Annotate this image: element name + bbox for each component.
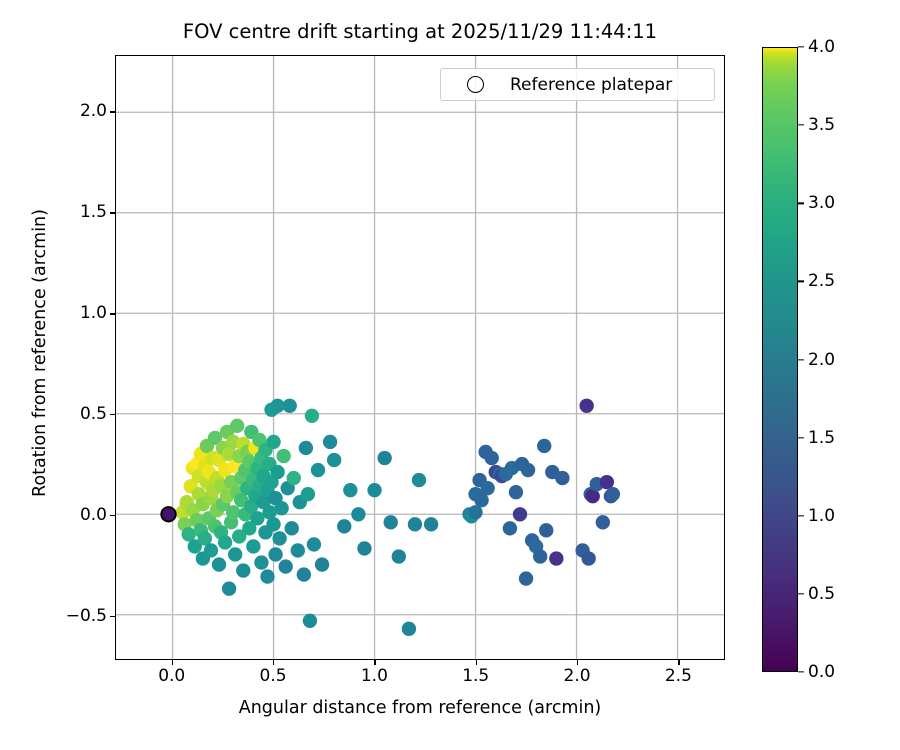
scatter-point (351, 507, 365, 521)
scatter-point (533, 549, 547, 563)
scatter-point (276, 449, 290, 463)
y-tick-mark (110, 616, 115, 617)
scatter-point (311, 463, 325, 477)
colorbar-tick-mark (798, 437, 804, 438)
page-title: FOV centre drift starting at 2025/11/29 … (115, 20, 725, 43)
colorbar-tick-label: 1.5 (808, 428, 835, 448)
y-tick-mark (110, 212, 115, 213)
x-tick-mark (273, 660, 274, 665)
y-tick-mark (110, 313, 115, 314)
y-tick-label: 2.0 (80, 101, 107, 121)
scatter-point (555, 471, 569, 485)
scatter-point (384, 515, 398, 529)
figure-canvas: FOV centre drift starting at 2025/11/29 … (0, 0, 900, 750)
scatter-point (272, 531, 286, 545)
scatter-point (343, 483, 357, 497)
scatter-point (268, 547, 282, 561)
x-tick-label: 1.0 (361, 666, 388, 686)
scatter-point (337, 519, 351, 533)
circle-icon (467, 76, 484, 93)
scatter-point (266, 517, 280, 531)
scatter-point (581, 551, 595, 565)
scatter-point (424, 517, 438, 531)
x-tick-mark (476, 660, 477, 665)
scatter-point (301, 487, 315, 501)
scatter-point (270, 465, 284, 479)
scatter-point (305, 409, 319, 423)
scatter-point (212, 557, 226, 571)
reference-marker (161, 507, 175, 521)
scatter-point (291, 543, 305, 557)
scatter-point (297, 567, 311, 581)
y-tick-label: −0.5 (66, 606, 107, 626)
scatter-point (274, 501, 288, 515)
x-tick-label: 1.5 (462, 666, 489, 686)
y-tick-label: 0.0 (80, 505, 107, 525)
x-axis-label: Angular distance from reference (arcmin) (115, 698, 725, 718)
scatter-point (254, 555, 268, 569)
x-tick-mark (374, 660, 375, 665)
scatter-point (367, 483, 381, 497)
scatter-point (521, 463, 535, 477)
gridlines (116, 56, 724, 659)
x-tick-label: 0.0 (158, 666, 185, 686)
scatter-point (357, 541, 371, 555)
y-axis-label: Rotation from reference (arcmin) (30, 48, 50, 658)
scatter-point (307, 537, 321, 551)
colorbar-tick-mark (798, 671, 804, 672)
colorbar-tick-label: 2.5 (808, 271, 835, 291)
x-tick-mark (678, 660, 679, 665)
scatter-point (303, 614, 317, 628)
scatter-point (230, 419, 244, 433)
scatter-point (236, 563, 250, 577)
scatter-point (260, 569, 274, 583)
colorbar-tick-label: 4.0 (808, 37, 835, 57)
colorbar-tick-label: 3.5 (808, 115, 835, 135)
y-tick-label: 1.0 (80, 303, 107, 323)
data-points-layer (175, 399, 620, 636)
colorbar-tick-mark (798, 359, 804, 360)
legend[interactable]: Reference platepar (440, 68, 715, 101)
scatter-point (519, 571, 533, 585)
colorbar-tick-label: 1.0 (808, 506, 835, 526)
scatter-point (226, 505, 240, 519)
colorbar-tick-label: 0.5 (808, 584, 835, 604)
scatter-point (596, 515, 610, 529)
x-tick-label: 0.5 (260, 666, 287, 686)
scatter-point (606, 487, 620, 501)
scatter-point (315, 557, 329, 571)
scatter-point (246, 539, 260, 553)
scatter-point (549, 551, 563, 565)
y-tick-mark (110, 515, 115, 516)
y-tick-mark (110, 414, 115, 415)
scatter-point (412, 473, 426, 487)
colorbar-tick-mark (798, 515, 804, 516)
plot-axes[interactable] (115, 55, 725, 660)
scatter-point (579, 399, 593, 413)
colorbar-gradient (762, 47, 798, 672)
scatter-point (287, 471, 301, 485)
scatter-point (266, 435, 280, 449)
colorbar-tick-mark (798, 46, 804, 47)
colorbar-tick-mark (798, 593, 804, 594)
scatter-point (283, 399, 297, 413)
scatter-point (539, 523, 553, 537)
x-tick-label: 2.5 (665, 666, 692, 686)
colorbar[interactable]: 0.00.51.01.52.02.53.03.54.0 (762, 47, 798, 672)
colorbar-tick-label: 3.0 (808, 193, 835, 213)
scatter-point (513, 507, 527, 521)
scatter-point (327, 453, 341, 467)
colorbar-tick-mark (798, 203, 804, 204)
scatter-point (222, 581, 236, 595)
scatter-point (392, 549, 406, 563)
scatter-point (402, 622, 416, 636)
scatter-point (204, 543, 218, 557)
scatter-point (377, 451, 391, 465)
scatter-plot-svg (116, 56, 724, 659)
colorbar-tick-mark (798, 281, 804, 282)
scatter-point (299, 441, 313, 455)
x-tick-mark (172, 660, 173, 665)
y-tick-label: 1.5 (80, 202, 107, 222)
y-tick-label: 0.5 (80, 404, 107, 424)
scatter-point (509, 485, 523, 499)
scatter-point (323, 435, 337, 449)
scatter-point (485, 451, 499, 465)
scatter-point (537, 439, 551, 453)
scatter-point (408, 517, 422, 531)
legend-label: Reference platepar (510, 75, 672, 95)
scatter-point (218, 535, 232, 549)
scatter-point (503, 521, 517, 535)
y-tick-mark (110, 111, 115, 112)
scatter-point (285, 521, 299, 535)
scatter-point (278, 559, 292, 573)
x-tick-mark (577, 660, 578, 665)
colorbar-tick-label: 2.0 (808, 350, 835, 370)
scatter-point (480, 481, 494, 495)
colorbar-tick-mark (798, 124, 804, 125)
reference-platepar-point (161, 507, 175, 521)
x-tick-label: 2.0 (564, 666, 591, 686)
colorbar-tick-label: 0.0 (808, 662, 835, 682)
scatter-point (228, 547, 242, 561)
